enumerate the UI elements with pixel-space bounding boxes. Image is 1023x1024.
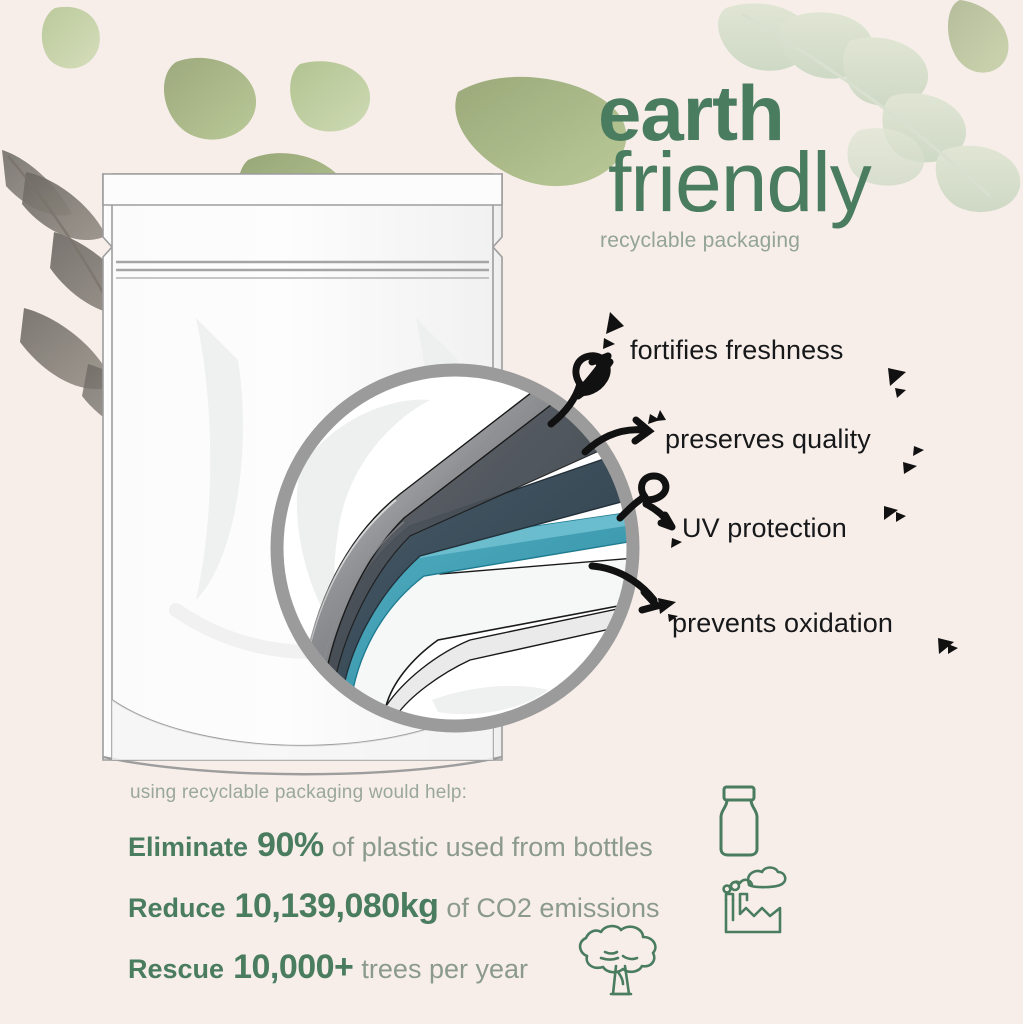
headline-subtitle: recyclable packaging (600, 231, 998, 250)
tree-icon (571, 922, 661, 1000)
stat-verb: Eliminate (128, 832, 248, 863)
stat-tail: of CO2 emissions (446, 893, 659, 924)
stats-intro: using recyclable packaging would help: (130, 782, 888, 804)
stat-verb: Reduce (128, 893, 226, 924)
stat-number: 10,139,080kg (235, 887, 439, 926)
stat-number: 10,000+ (233, 948, 353, 987)
stat-number: 90% (257, 826, 324, 865)
stat-tail: of plastic used from bottles (332, 832, 653, 863)
infographic-canvas: earth friendly recyclable packaging fort… (0, 0, 1023, 1024)
feature-label-prevents-oxidation: prevents oxidation (672, 608, 893, 639)
bottle-icon (710, 783, 768, 859)
stat-tail: trees per year (361, 954, 528, 985)
factory-icon (718, 862, 788, 934)
feature-label-uv-protection: UV protection (682, 513, 847, 544)
stat-verb: Rescue (128, 954, 224, 985)
headline-line-2: friendly (608, 144, 998, 221)
feature-label-fortifies-freshness: fortifies freshness (630, 335, 843, 366)
feature-label-preserves-quality: preserves quality (665, 424, 871, 455)
stat-row: Eliminate 90% of plastic used from bottl… (128, 826, 888, 865)
stat-row: Rescue 10,000+ trees per year (128, 948, 888, 987)
headline-block: earth friendly recyclable packaging (598, 78, 998, 250)
